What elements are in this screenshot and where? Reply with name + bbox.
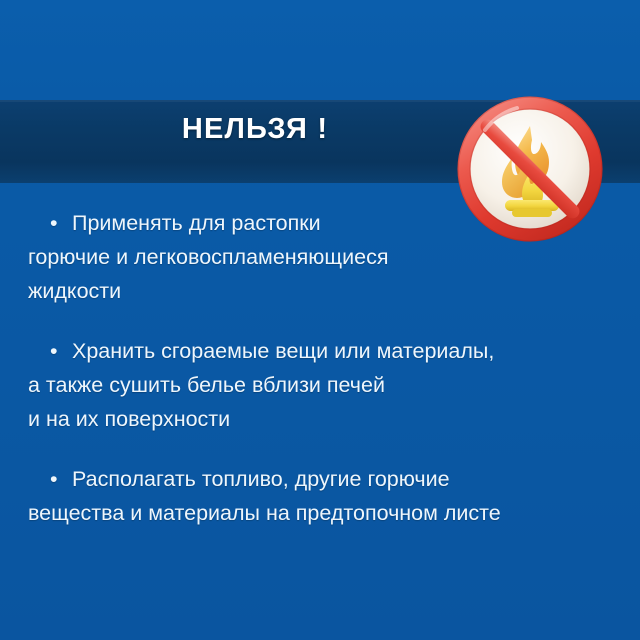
rule-line-text: Хранить сгораемые вещи или материалы, (72, 339, 494, 363)
rule-line: горючие и легковоспламеняющиеся (0, 240, 640, 274)
poster-canvas: НЕЛЬЗЯ ! (0, 0, 640, 640)
rule-line: а также сушить белье вблизи печей (0, 368, 640, 402)
bullet-icon: • (50, 206, 72, 240)
rule-line-text: Располагать топливо, другие горючие (72, 467, 450, 491)
rule-line: •Располагать топливо, другие горючие (0, 462, 640, 496)
rule-line: •Применять для растопки (0, 206, 640, 240)
rule-item: •Применять для растопки горючие и легков… (0, 206, 640, 308)
rule-line: •Хранить сгораемые вещи или материалы, (0, 334, 640, 368)
rule-item: •Хранить сгораемые вещи или материалы, а… (0, 334, 640, 436)
rule-line: вещества и материалы на предтопочном лис… (0, 496, 640, 530)
bullet-icon: • (50, 334, 72, 368)
rule-line: и на их поверхности (0, 402, 640, 436)
rules-list: •Применять для растопки горючие и легков… (0, 206, 640, 530)
rule-item: •Располагать топливо, другие горючие вещ… (0, 462, 640, 530)
rule-line-text: Применять для растопки (72, 211, 321, 235)
rule-line: жидкости (0, 274, 640, 308)
bullet-icon: • (50, 462, 72, 496)
